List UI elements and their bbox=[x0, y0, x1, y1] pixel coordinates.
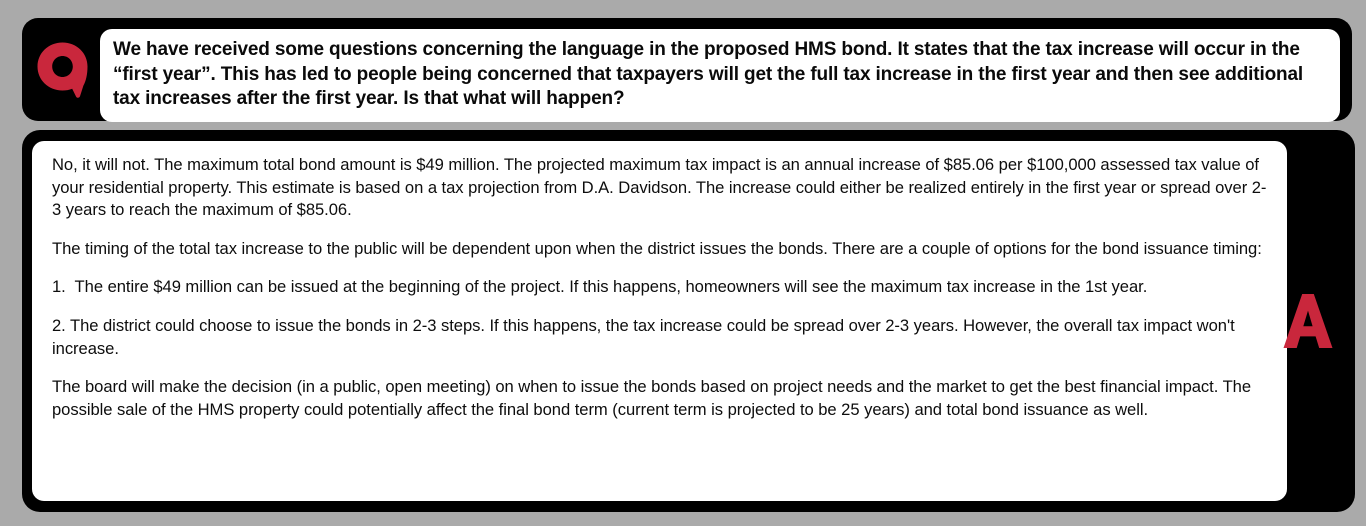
answer-list-item-2: 2. The district could choose to issue th… bbox=[52, 315, 1267, 360]
question-card: We have received some questions concerni… bbox=[22, 18, 1352, 121]
question-bubble: We have received some questions concerni… bbox=[100, 29, 1340, 122]
answer-panel: No, it will not. The maximum total bond … bbox=[32, 141, 1287, 501]
answer-list-item-1: 1. The entire $49 million can be issued … bbox=[52, 276, 1267, 299]
answer-card: No, it will not. The maximum total bond … bbox=[22, 130, 1355, 512]
answer-paragraph-1: No, it will not. The maximum total bond … bbox=[52, 154, 1267, 222]
question-text: We have received some questions concerni… bbox=[113, 38, 1324, 112]
question-badge bbox=[22, 18, 100, 121]
q-speech-bubble-icon bbox=[35, 40, 95, 100]
answer-paragraph-2: The timing of the total tax increase to … bbox=[52, 238, 1267, 261]
answer-paragraph-3: The board will make the decision (in a p… bbox=[52, 376, 1267, 421]
qa-page: We have received some questions concerni… bbox=[0, 0, 1366, 526]
a-letter-icon bbox=[1282, 292, 1334, 350]
answer-badge bbox=[1275, 130, 1341, 512]
